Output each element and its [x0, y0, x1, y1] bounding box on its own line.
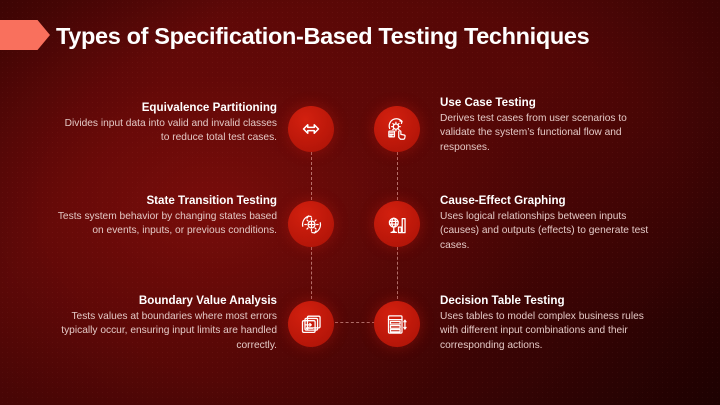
block-description: Uses tables to model complex business ru…: [440, 310, 662, 353]
block-description: Tests system behavior by changing states…: [55, 210, 277, 239]
block-state-transition-testing: State Transition Testing Tests system be…: [55, 193, 277, 239]
bar-chart-globe-icon: [384, 211, 411, 238]
stacked-cards-icon: [298, 311, 325, 338]
block-title: Decision Table Testing: [440, 293, 662, 308]
block-cause-effect-graphing: Cause-Effect Graphing Uses logical relat…: [440, 193, 662, 253]
slide-canvas: Types of Specification-Based Testing Tec…: [0, 0, 720, 405]
block-decision-table-testing: Decision Table Testing Uses tables to mo…: [440, 293, 662, 353]
block-equivalence-partitioning: Equivalence Partitioning Divides input d…: [55, 100, 277, 146]
block-use-case-testing: Use Case Testing Derives test cases from…: [440, 95, 662, 155]
node-cause-effect-graphing[interactable]: [374, 201, 420, 247]
header-arrow-marker-icon: [0, 20, 50, 50]
block-description: Tests values at boundaries where most er…: [55, 310, 277, 353]
node-equivalence-partitioning[interactable]: [288, 106, 334, 152]
gear-hand-icon: [384, 116, 411, 143]
node-state-transition-testing[interactable]: [288, 201, 334, 247]
node-boundary-value-analysis[interactable]: [288, 301, 334, 347]
block-description: Derives test cases from user scenarios t…: [440, 112, 662, 155]
block-title: Use Case Testing: [440, 95, 662, 110]
node-decision-table-testing[interactable]: [374, 301, 420, 347]
block-description: Divides input data into valid and invali…: [55, 117, 277, 146]
block-description: Uses logical relationships between input…: [440, 210, 662, 253]
block-title: Equivalence Partitioning: [55, 100, 277, 115]
block-title: Cause-Effect Graphing: [440, 193, 662, 208]
block-title: State Transition Testing: [55, 193, 277, 208]
double-arrow-icon: [297, 115, 325, 143]
page-title: Types of Specification-Based Testing Tec…: [56, 14, 589, 58]
slide-header: Types of Specification-Based Testing Tec…: [0, 14, 720, 58]
table-list-icon: [384, 311, 411, 338]
node-use-case-testing[interactable]: [374, 106, 420, 152]
gear-cycle-icon: [298, 211, 325, 238]
block-title: Boundary Value Analysis: [55, 293, 277, 308]
block-boundary-value-analysis: Boundary Value Analysis Tests values at …: [55, 293, 277, 353]
